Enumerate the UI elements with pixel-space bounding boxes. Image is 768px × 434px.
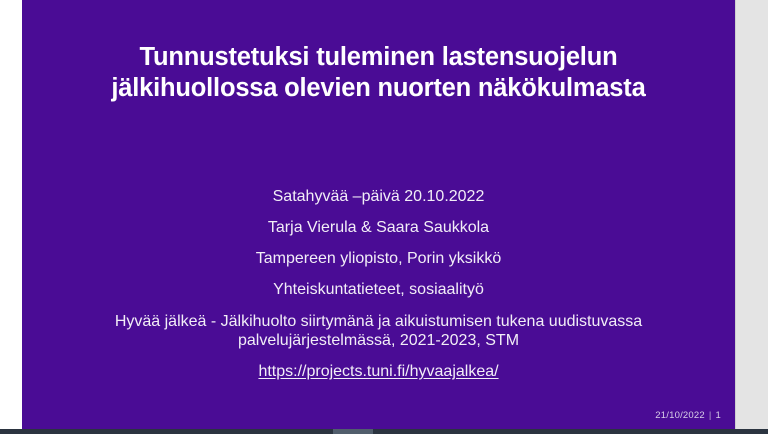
footer-page-number: 1	[716, 410, 721, 421]
slide-body-line-event: Satahyvää –päivä 20.10.2022	[36, 188, 721, 206]
slide-title-line-2: jälkihuollossa olevien nuorten näkökulma…	[40, 73, 717, 104]
project-url-link[interactable]: https://projects.tuni.fi/hyvaajalkea/	[258, 363, 498, 380]
footer-date: 21/10/2022	[655, 410, 705, 421]
slide-body-line-organization: Tampereen yliopisto, Porin yksikkö	[36, 250, 721, 268]
slide-body-link-wrapper: https://projects.tuni.fi/hyvaajalkea/	[36, 363, 721, 381]
slide-body-line-project: Hyvää jälkeä - Jälkihuolto siirtymänä ja…	[36, 312, 721, 350]
horizontal-scrollbar-thumb[interactable]	[333, 429, 373, 434]
slide-viewer: Tunnustetuksi tuleminen lastensuojelun j…	[0, 0, 768, 429]
slide-footer: 21/10/2022|1	[655, 410, 721, 421]
slide-title: Tunnustetuksi tuleminen lastensuojelun j…	[22, 42, 735, 104]
slide-body-line-authors: Tarja Vierula & Saara Saukkola	[36, 219, 721, 237]
footer-separator: |	[705, 410, 716, 421]
page-surround	[735, 0, 768, 429]
horizontal-scrollbar[interactable]	[0, 429, 768, 434]
presentation-slide: Tunnustetuksi tuleminen lastensuojelun j…	[22, 0, 735, 429]
slide-body-line-discipline: Yhteiskuntatieteet, sosiaalityö	[36, 281, 721, 299]
slide-body: Satahyvää –päivä 20.10.2022 Tarja Vierul…	[22, 188, 735, 394]
slide-title-line-1: Tunnustetuksi tuleminen lastensuojelun	[40, 42, 717, 73]
